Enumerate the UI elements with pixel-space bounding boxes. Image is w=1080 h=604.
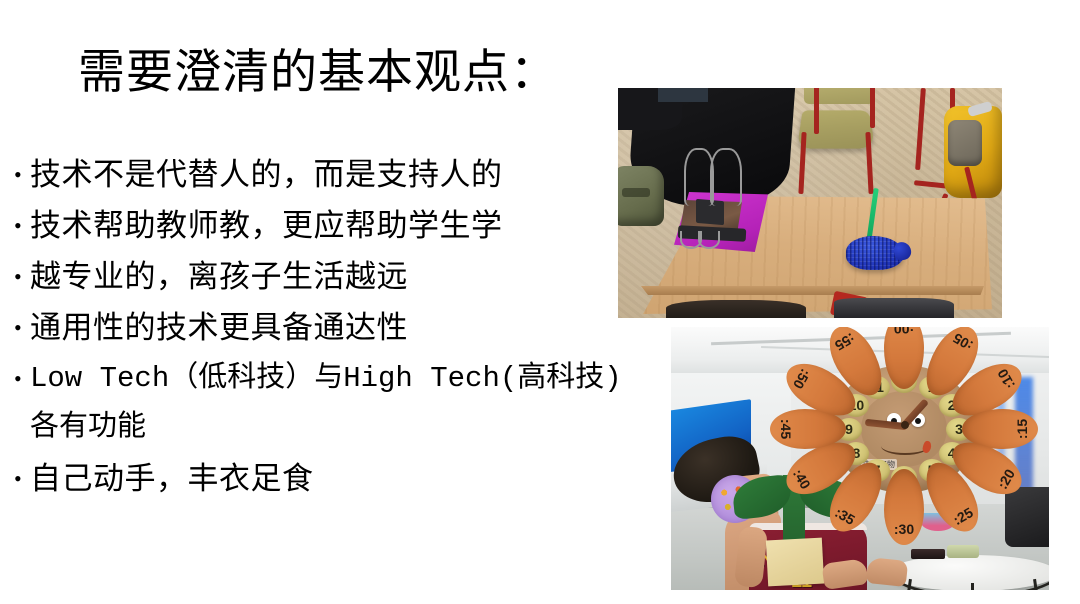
photo-green-bag bbox=[618, 166, 664, 226]
clock-petal-label: :10 bbox=[989, 358, 1023, 401]
list-item: • 技术不是代替人的，而是支持人的 bbox=[14, 150, 664, 199]
bullet-dot-icon: • bbox=[14, 354, 30, 403]
clock-petal-label: :40 bbox=[785, 458, 819, 501]
clock-petal-label: :30 bbox=[884, 521, 924, 537]
photo-flower-clock: 中华好物 121234567891011 :00:05:10:15:20:25:… bbox=[779, 339, 1029, 519]
clock-petal-label: :00 bbox=[884, 327, 924, 337]
photo-yellow-card bbox=[766, 538, 824, 587]
bullet-dot-icon: • bbox=[14, 201, 30, 250]
clock-petal-label: :20 bbox=[989, 458, 1023, 501]
photo-child-hand-right bbox=[866, 557, 908, 587]
photo-wire-frame bbox=[710, 148, 742, 206]
page-title: 需要澄清的基本观点： bbox=[78, 44, 598, 102]
list-item-label: 技术不是代替人的，而是支持人的 bbox=[30, 150, 503, 199]
bullet-dot-icon: • bbox=[14, 150, 30, 199]
presentation-slide: 需要澄清的基本观点： • 技术不是代替人的，而是支持人的 • 技术帮助教师教，更… bbox=[0, 0, 1080, 604]
photo-chair-leg bbox=[814, 88, 819, 134]
photo-wire-frame bbox=[698, 231, 720, 249]
clock-pivot bbox=[901, 421, 909, 429]
clock-petal: :30 bbox=[884, 469, 924, 545]
list-item: • 自己动手，丰衣足食 bbox=[14, 454, 664, 503]
photo-backpack-pocket bbox=[948, 120, 982, 166]
photo-child-flower-clock: LYTHEIS 11 中华好物 121234567891011 :00: bbox=[671, 327, 1049, 590]
photo-classroom-desk bbox=[618, 88, 1002, 318]
photo-table-object-green bbox=[947, 545, 979, 558]
photo-foreground-dark bbox=[666, 300, 806, 318]
photo-chair-seat bbox=[797, 110, 875, 148]
clock-petal-label: :50 bbox=[785, 358, 819, 401]
clock-petal-label: :15 bbox=[1014, 409, 1030, 449]
list-item: • 通用性的技术更具备通达性 bbox=[14, 303, 664, 352]
photo-desk-edge bbox=[634, 286, 984, 295]
bullet-list: • 技术不是代替人的，而是支持人的 • 技术帮助教师教，更应帮助学生学 • 越专… bbox=[14, 150, 664, 505]
bullet-dot-icon: • bbox=[14, 303, 30, 352]
list-item-label: 通用性的技术更具备通达性 bbox=[30, 303, 408, 352]
list-item: • Low Tech（低科技）与High Tech(高科技) 各有功能 bbox=[14, 354, 664, 452]
list-item: • 技术帮助教师教，更应帮助学生学 bbox=[14, 201, 664, 250]
list-item: • 越专业的，离孩子生活越远 bbox=[14, 252, 664, 301]
photo-table-leg bbox=[971, 583, 974, 590]
list-item-label: 自己动手，丰衣足食 bbox=[30, 454, 314, 503]
list-item-label: 越专业的，离孩子生活越远 bbox=[30, 252, 408, 301]
bullet-dot-icon: • bbox=[14, 252, 30, 301]
list-item-label: 技术帮助教师教，更应帮助学生学 bbox=[30, 201, 503, 250]
list-item-label: Low Tech（低科技）与High Tech(高科技) 各有功能 bbox=[30, 354, 622, 452]
bullet-dot-icon: • bbox=[14, 454, 30, 503]
photo-whiteboard bbox=[658, 88, 708, 102]
photo-foreground-dark-2 bbox=[834, 298, 954, 318]
photo-chair-leg bbox=[870, 88, 875, 128]
photo-table-object-dark bbox=[911, 549, 945, 559]
clock-petal-label: :45 bbox=[778, 409, 794, 449]
